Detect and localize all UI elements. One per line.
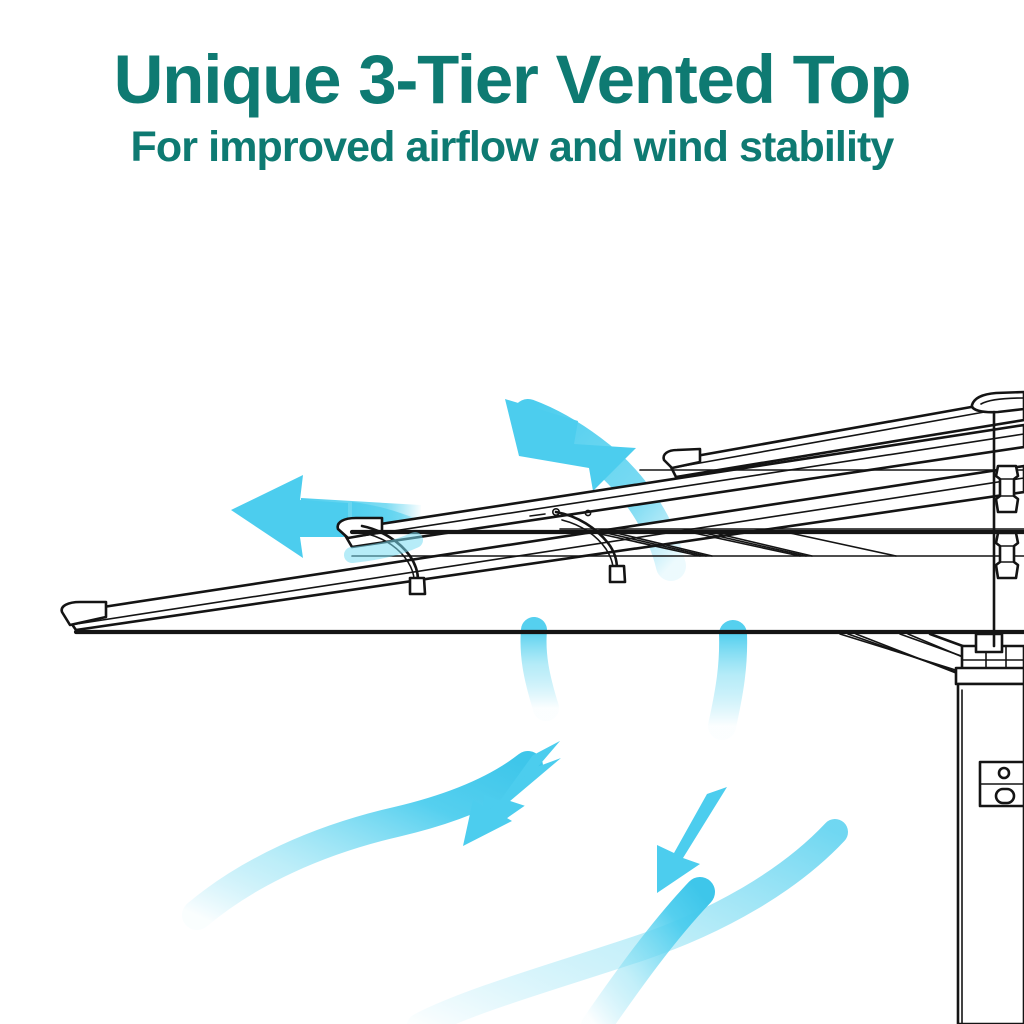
finial-cap: [972, 392, 1024, 412]
hub-middle: [996, 533, 1018, 578]
arrow-center-rise: [722, 634, 733, 726]
arrow-center-rise-upper: [534, 630, 547, 708]
arrow-lower-left-curve: [197, 741, 570, 915]
crank-housing: [980, 762, 1024, 806]
tier-3-lower-canopy: [62, 466, 1024, 630]
umbrella-illustration: [0, 0, 1024, 1024]
arrow-lower-right-curve: [596, 787, 727, 1024]
promo-graphic-canvas: Unique 3-Tier Vented Top For improved ai…: [0, 0, 1024, 1024]
hub-upper: [996, 466, 1018, 512]
airflow-arrows-lower: [197, 630, 835, 1024]
hub-lower: [956, 634, 1024, 684]
